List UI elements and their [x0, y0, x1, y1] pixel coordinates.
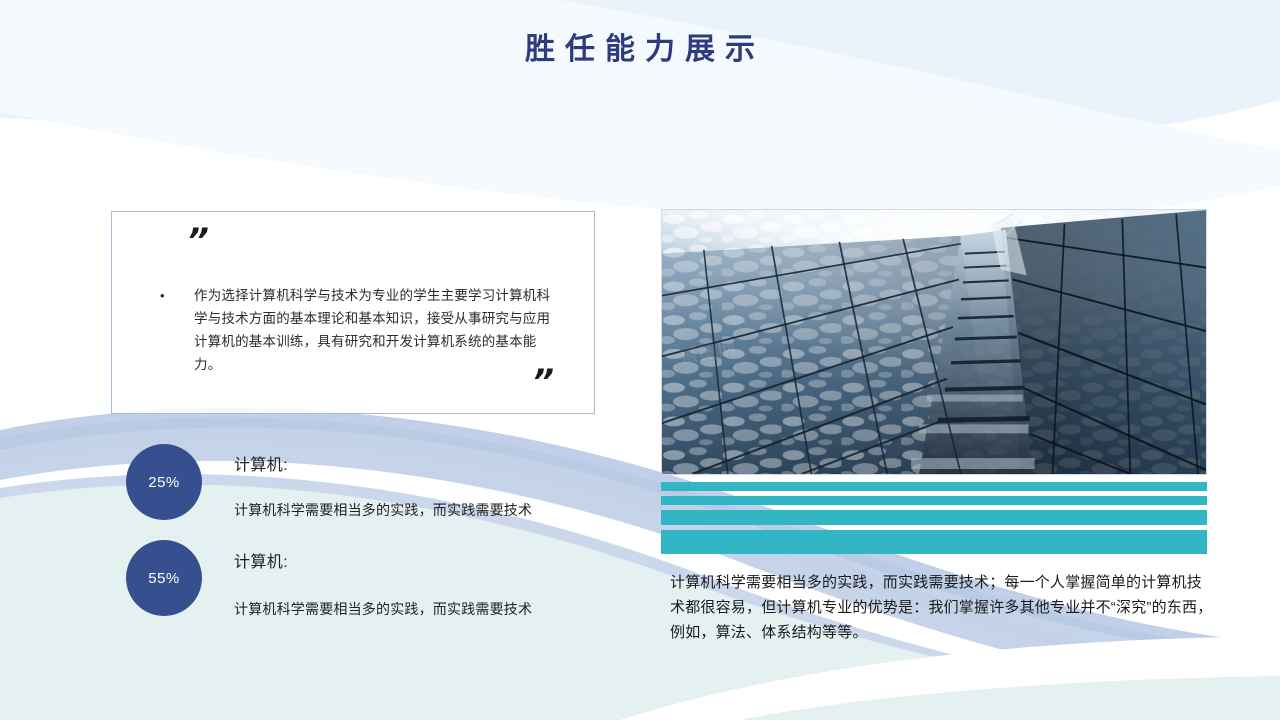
quote-close-icon: ”	[532, 365, 552, 399]
teal-bar	[661, 530, 1207, 554]
page-title: 胜任能力展示	[0, 24, 1280, 68]
teal-bar	[661, 510, 1207, 525]
quote-bullet-icon: •	[160, 289, 165, 302]
quote-text: 作为选择计算机科学与技术为专业的学生主要学习计算机科学与技术方面的基本理论和基本…	[194, 284, 552, 376]
stat-title: 计算机:	[234, 548, 288, 572]
bottom-paragraph: 计算机科学需要相当多的实践，而实践需要技术；每一个人掌握简单的计算机技术都很容易…	[670, 570, 1215, 645]
stat-description: 计算机科学需要相当多的实践，而实践需要技术	[234, 599, 532, 619]
stat-description: 计算机科学需要相当多的实践，而实践需要技术	[234, 500, 532, 520]
stat-circle-percent: 25%	[126, 444, 202, 520]
stat-circle-percent: 55%	[126, 540, 202, 616]
quote-card: ” • 作为选择计算机科学与技术为专业的学生主要学习计算机科学与技术方面的基本理…	[111, 211, 595, 414]
teal-bar	[661, 496, 1207, 505]
building-photo-graphic	[662, 210, 1206, 474]
quote-open-icon: ”	[187, 224, 207, 258]
slide-canvas: 胜任能力展示 ” • 作为选择计算机科学与技术为专业的学生主要学习计算机科学与技…	[0, 0, 1280, 720]
teal-bar	[661, 482, 1207, 491]
building-photo: 摄图网	[661, 209, 1207, 475]
stat-title: 计算机:	[234, 451, 288, 475]
